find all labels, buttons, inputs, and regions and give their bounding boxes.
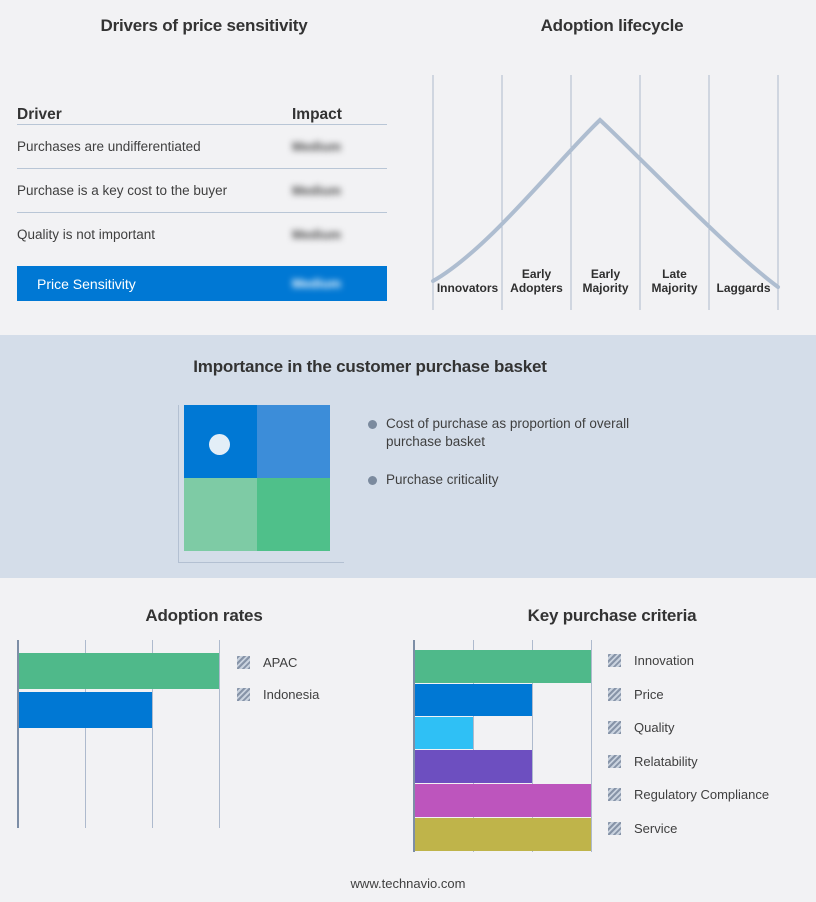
table-header-row: Driver Impact bbox=[17, 90, 387, 124]
quadrant-top-right bbox=[257, 405, 330, 478]
bullet-icon bbox=[368, 420, 377, 429]
impact-cell: Medium bbox=[292, 183, 387, 198]
basket-legend: Cost of purchase as proportion of overal… bbox=[368, 415, 688, 509]
bar-indonesia bbox=[19, 692, 152, 728]
adoption-lifecycle-panel: Adoption lifecycle Innovators Early Adop… bbox=[408, 0, 816, 335]
key-purchase-criteria-legend: Innovation Price Quality Relatability Re… bbox=[608, 644, 769, 845]
quadrant-matrix bbox=[178, 405, 348, 570]
bar-apac bbox=[19, 653, 219, 689]
legend-label: Regulatory Compliance bbox=[634, 787, 769, 802]
column-header-driver: Driver bbox=[17, 106, 292, 124]
position-marker-dot bbox=[209, 434, 230, 455]
summary-label: Price Sensitivity bbox=[37, 276, 292, 292]
lifecycle-stage-label-early-majority: Early Majority bbox=[571, 268, 640, 295]
legend-label: Indonesia bbox=[263, 687, 319, 702]
table-row: Purchases are undifferentiated Medium bbox=[17, 125, 387, 168]
adoption-rates-title: Adoption rates bbox=[0, 606, 408, 626]
adoption-rates-panel: Adoption rates APAC Indonesia bbox=[0, 578, 408, 878]
legend-item: Cost of purchase as proportion of overal… bbox=[368, 415, 688, 451]
legend-swatch-icon bbox=[608, 654, 621, 667]
legend-swatch-icon bbox=[237, 688, 250, 701]
legend-item: Regulatory Compliance bbox=[608, 778, 769, 812]
legend-item: Purchase criticality bbox=[368, 471, 688, 489]
legend-label: Purchase criticality bbox=[386, 471, 499, 489]
quadrant-bottom-left bbox=[184, 478, 257, 551]
legend-item: APAC bbox=[237, 646, 319, 678]
key-purchase-criteria-title: Key purchase criteria bbox=[408, 606, 816, 626]
summary-impact: Medium bbox=[292, 276, 387, 291]
legend-item: Relatability bbox=[608, 745, 769, 779]
key-purchase-criteria-chart bbox=[413, 640, 603, 852]
bell-curve-path bbox=[433, 120, 778, 287]
legend-swatch-icon bbox=[608, 822, 621, 835]
bar-relatability bbox=[415, 750, 532, 783]
legend-label: Price bbox=[634, 687, 664, 702]
legend-label: Innovation bbox=[634, 653, 694, 668]
bar-price bbox=[415, 684, 532, 716]
price-sensitivity-summary-row: Price Sensitivity Medium bbox=[17, 266, 387, 301]
lifecycle-stage-label-laggards: Laggards bbox=[709, 282, 778, 296]
table-row: Purchase is a key cost to the buyer Medi… bbox=[17, 169, 387, 212]
basket-panel-title: Importance in the customer purchase bask… bbox=[0, 357, 740, 377]
lifecycle-panel-title: Adoption lifecycle bbox=[408, 16, 816, 36]
legend-swatch-icon bbox=[608, 788, 621, 801]
impact-cell: Medium bbox=[292, 227, 387, 242]
drivers-panel: Drivers of price sensitivity Driver Impa… bbox=[0, 0, 408, 335]
drivers-table: Driver Impact Purchases are undifferenti… bbox=[17, 90, 387, 301]
legend-item: Indonesia bbox=[237, 678, 319, 710]
footer-url: www.technavio.com bbox=[0, 876, 816, 891]
bullet-icon bbox=[368, 476, 377, 485]
drivers-panel-title: Drivers of price sensitivity bbox=[0, 16, 408, 36]
legend-item: Service bbox=[608, 812, 769, 846]
impact-cell: Medium bbox=[292, 139, 387, 154]
bar-quality bbox=[415, 717, 473, 749]
lifecycle-stage-label-early-adopters: Early Adopters bbox=[502, 268, 571, 295]
gridline bbox=[591, 640, 592, 852]
legend-swatch-icon bbox=[608, 721, 621, 734]
matrix-y-axis bbox=[178, 405, 179, 563]
table-row: Quality is not important Medium bbox=[17, 213, 387, 256]
key-purchase-criteria-panel: Key purchase criteria Innovation Price Q… bbox=[408, 578, 816, 878]
legend-swatch-icon bbox=[608, 755, 621, 768]
quadrant-bottom-right bbox=[257, 478, 330, 551]
plot-area bbox=[17, 640, 237, 828]
legend-label: APAC bbox=[263, 655, 297, 670]
lifecycle-stage-label-late-majority: Late Majority bbox=[640, 268, 709, 295]
gridline bbox=[219, 640, 220, 828]
legend-label: Quality bbox=[634, 720, 674, 735]
lifecycle-chart: Innovators Early Adopters Early Majority… bbox=[428, 75, 800, 310]
legend-swatch-icon bbox=[608, 688, 621, 701]
legend-swatch-icon bbox=[237, 656, 250, 669]
legend-item: Price bbox=[608, 678, 769, 712]
legend-item: Quality bbox=[608, 711, 769, 745]
plot-area bbox=[413, 640, 603, 852]
bar-regulatory-compliance bbox=[415, 784, 591, 817]
matrix-x-axis bbox=[178, 562, 344, 563]
bar-innovation bbox=[415, 650, 591, 683]
legend-label: Service bbox=[634, 821, 677, 836]
driver-cell: Purchase is a key cost to the buyer bbox=[17, 183, 292, 198]
column-header-impact: Impact bbox=[292, 106, 387, 124]
purchase-basket-panel: Importance in the customer purchase bask… bbox=[0, 335, 816, 578]
driver-cell: Quality is not important bbox=[17, 227, 292, 242]
bar-service bbox=[415, 818, 591, 851]
legend-label: Relatability bbox=[634, 754, 698, 769]
driver-cell: Purchases are undifferentiated bbox=[17, 139, 292, 154]
legend-label: Cost of purchase as proportion of overal… bbox=[386, 415, 646, 451]
lifecycle-stage-label-innovators: Innovators bbox=[433, 282, 502, 296]
adoption-rates-legend: APAC Indonesia bbox=[237, 646, 319, 710]
adoption-rates-chart bbox=[17, 640, 237, 828]
legend-item: Innovation bbox=[608, 644, 769, 678]
